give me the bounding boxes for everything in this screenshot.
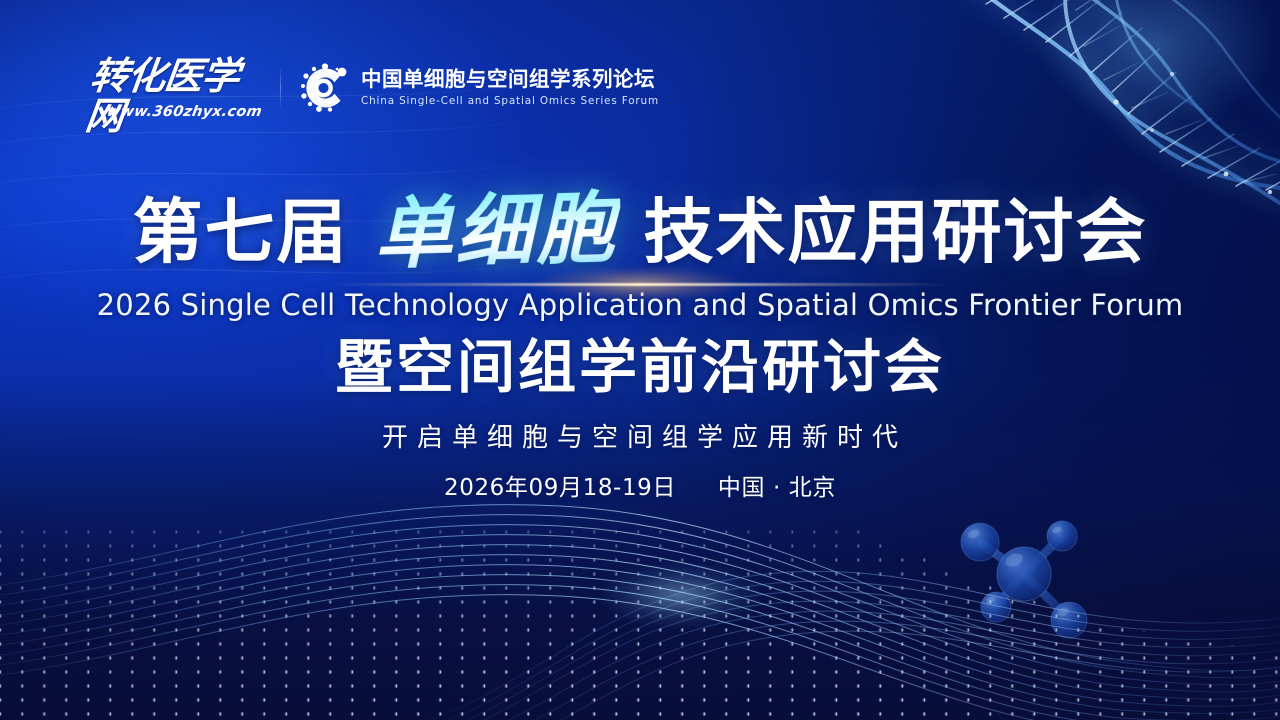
secondary-title-cn: 暨空间组学前沿研讨会 <box>0 335 1280 401</box>
publisher-name: 转化医学网 <box>83 57 271 137</box>
tagline: 开启单细胞与空间组学应用新时代 <box>0 421 1280 453</box>
main-title-suffix: 技术应用研讨会 <box>644 189 1148 275</box>
main-title-prefix: 第七届 <box>132 189 348 275</box>
event-location: 中国 · 北京 <box>718 475 836 501</box>
subtitle-english: 2026 Single Cell Technology Application … <box>0 287 1280 323</box>
logo-bar: 转化医学网 www.360zhyx.com <box>88 57 659 119</box>
forum-logo[interactable]: 中国单细胞与空间组学系列论坛 China Single-Cell and Spa… <box>299 62 659 114</box>
logo-divider <box>280 66 281 110</box>
lens-flare-core <box>330 283 950 286</box>
main-title-highlight: 单细胞 <box>369 186 622 279</box>
forum-name-cn: 中国单细胞与空间组学系列论坛 <box>361 68 659 92</box>
conference-banner: 转化医学网 www.360zhyx.com <box>0 0 1280 720</box>
forum-logo-text: 中国单细胞与空间组学系列论坛 China Single-Cell and Spa… <box>361 68 659 109</box>
event-meta: 2026年09月18-19日 中国 · 北京 <box>0 473 1280 503</box>
publisher-logo[interactable]: 转化医学网 www.360zhyx.com <box>88 57 266 119</box>
forum-name-en: China Single-Cell and Spatial Omics Seri… <box>361 93 659 109</box>
event-date: 2026年09月18-19日 <box>444 475 676 501</box>
title-block: 第七届 单细胞 技术应用研讨会 2026 Single Cell Technol… <box>0 186 1280 503</box>
cell-logo-icon <box>299 62 351 114</box>
main-title-line: 第七届 单细胞 技术应用研讨会 <box>0 186 1280 278</box>
publisher-website: www.360zhyx.com <box>106 104 264 120</box>
